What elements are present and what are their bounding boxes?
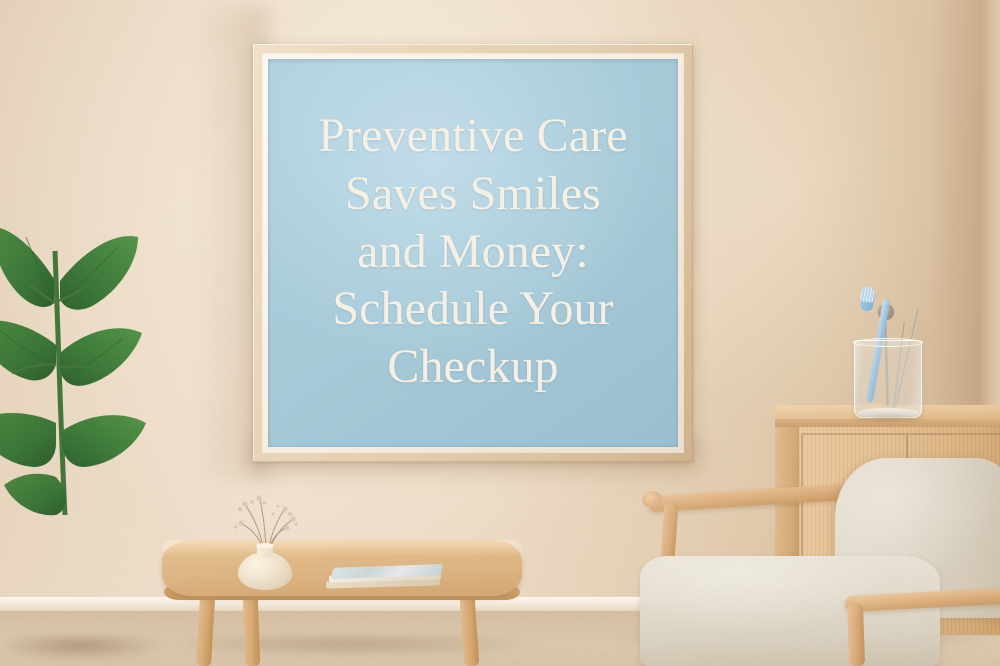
armrest-right-post <box>847 604 865 666</box>
toothbrush-bristles-icon <box>860 286 875 303</box>
table-leg <box>460 596 480 666</box>
headline-line-2: Saves Smiles <box>280 165 665 223</box>
cabinet-door-seam-top <box>801 433 1000 435</box>
plant-foliage <box>0 215 196 545</box>
glass-cup-shadow <box>852 414 928 423</box>
headline-line-5: Checkup <box>280 338 665 396</box>
armrest-left-cap <box>642 491 662 508</box>
table-leg <box>243 596 260 666</box>
poster-mat: Preventive Care Saves Smiles and Money: … <box>262 53 684 453</box>
potted-plant <box>0 215 196 575</box>
poster-artwork[interactable]: Preventive Care Saves Smiles and Money: … <box>268 59 678 447</box>
magazine-stack <box>326 566 444 596</box>
vase-lip <box>256 543 274 548</box>
table-leg <box>196 596 215 666</box>
poster-headline: Preventive Care Saves Smiles and Money: … <box>280 107 665 396</box>
headline-line-4: Schedule Your <box>280 280 665 338</box>
ceramic-vase <box>238 540 292 590</box>
headline-line-1: Preventive Care <box>280 107 665 165</box>
glass-cup <box>854 340 922 418</box>
pot-floor-shadow <box>0 636 168 660</box>
armchair[interactable] <box>640 462 1000 666</box>
room-scene: Preventive Care Saves Smiles and Money: … <box>0 0 1000 666</box>
chair-seat-texture <box>640 556 940 666</box>
glass-cup-rim <box>853 338 923 347</box>
headline-line-3: and Money: <box>280 223 665 281</box>
dental-tool-cup[interactable] <box>848 282 928 418</box>
table-top-highlight <box>162 540 522 556</box>
poster-frame[interactable]: Preventive Care Saves Smiles and Money: … <box>253 44 693 462</box>
coffee-table <box>162 540 522 666</box>
